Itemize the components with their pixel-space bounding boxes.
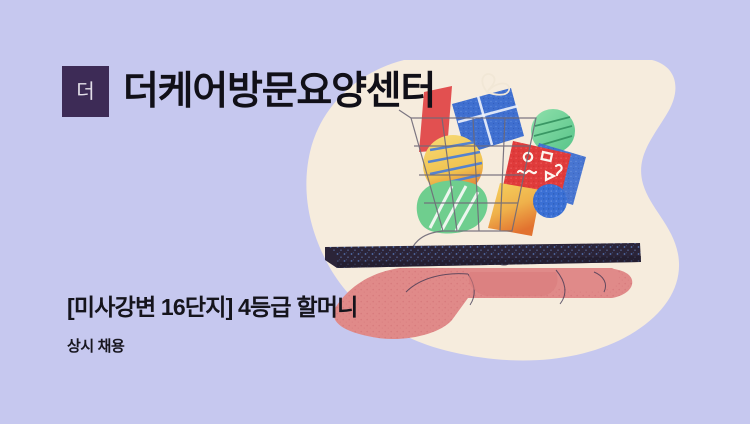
illustration-shopping-cart	[0, 0, 750, 424]
job-subline: 상시 채용	[67, 338, 124, 356]
logo-mark: 더	[62, 66, 109, 117]
job-headline: [미사강변 16단지] 4등급 할머니	[67, 294, 357, 322]
organization-name: 더케어방문요양센터	[123, 72, 435, 111]
ball-blue	[533, 184, 567, 218]
job-posting-banner: 더 더케어방문요양센터 [미사강변 16단지] 4등급 할머니 상시 채용	[0, 0, 750, 424]
logo-mark-text: 더	[76, 82, 94, 102]
ball-green	[531, 109, 575, 153]
brand-lockup: 더 더케어방문요양센터	[62, 66, 435, 117]
